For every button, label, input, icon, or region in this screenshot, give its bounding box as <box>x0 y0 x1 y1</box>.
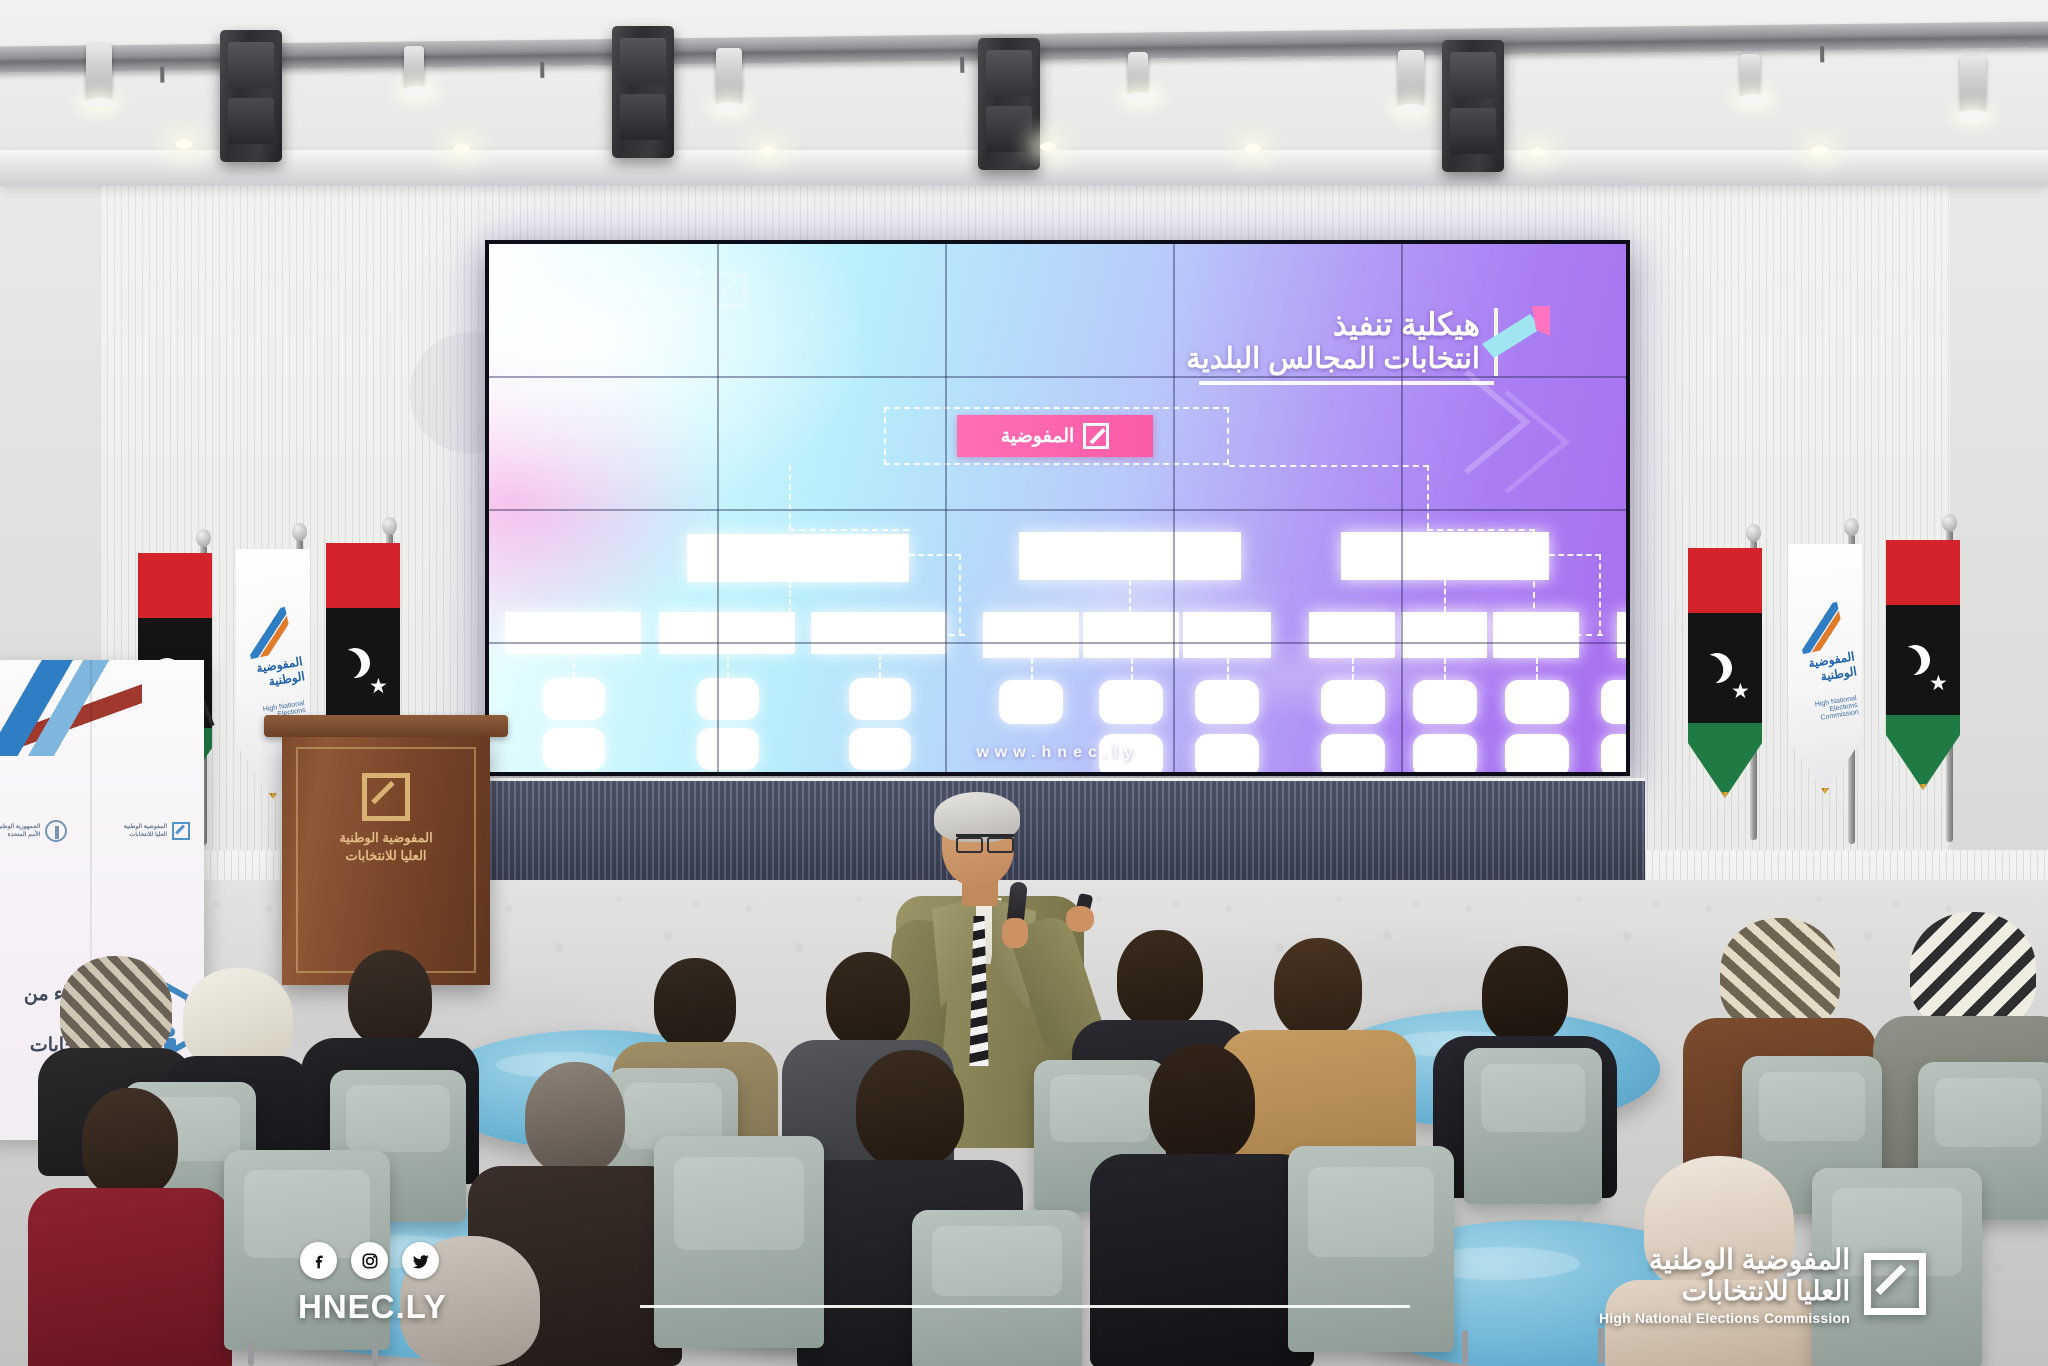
connector <box>1427 529 1535 531</box>
twitter-icon[interactable] <box>402 1242 439 1279</box>
video-wall-seam <box>1173 244 1175 772</box>
audience-head <box>525 1062 625 1174</box>
org-node-level3 <box>1617 612 1626 658</box>
ghost-logo-line2: انتخابات المجالس <box>593 281 703 300</box>
audience-head <box>826 952 910 1048</box>
connector <box>959 554 961 634</box>
connector <box>1229 465 1429 467</box>
video-wall-seam <box>489 642 1626 644</box>
audience-head <box>82 1088 178 1198</box>
partner-left-line2: العليا للانتخابات <box>124 831 167 839</box>
ceiling-downlight <box>1040 142 1056 151</box>
audience-member <box>40 1088 220 1366</box>
social-links[interactable] <box>300 1242 439 1279</box>
connector <box>1131 658 1133 680</box>
glasses-icon <box>956 834 1014 846</box>
stage-light <box>86 44 112 102</box>
chair <box>654 1136 824 1348</box>
presentation-slide: هيكلية تنفيذ انتخابات المجالس البلدية هي… <box>489 244 1626 772</box>
chair-leg <box>1462 1330 1468 1364</box>
org-node-level4 <box>1195 680 1259 724</box>
org-node-level2 <box>687 534 909 582</box>
ceiling-downlight <box>454 144 470 153</box>
video-wall-seam <box>489 376 1626 378</box>
connector <box>1599 554 1601 636</box>
org-node-level3 <box>811 612 947 654</box>
ceiling-downlight <box>176 140 192 149</box>
hijab <box>60 956 172 1060</box>
stage-light <box>716 48 742 106</box>
checkbox-icon <box>172 822 190 840</box>
banner-graphic <box>0 660 142 756</box>
partner-logo-left: المفوضية الوطنية العليا للانتخابات <box>124 822 190 840</box>
org-node-commission-label: المفوضية <box>1001 425 1075 448</box>
podium-logo-line1: المفوضية الوطنية <box>339 829 432 847</box>
podium-logo: المفوضية الوطنية العليا للانتخابات <box>282 773 490 865</box>
ceiling-downlight <box>1245 144 1261 153</box>
audience-member <box>1102 1044 1302 1364</box>
org-node-level4 <box>1099 680 1163 724</box>
hanging-speaker <box>612 26 674 158</box>
ceiling-downlight <box>760 146 776 155</box>
video-wall[interactable]: هيكلية تنفيذ انتخابات المجالس البلدية هي… <box>485 240 1630 776</box>
connector <box>1031 658 1033 680</box>
hnec-flag-mark-icon <box>242 607 294 659</box>
instagram-icon[interactable] <box>351 1242 388 1279</box>
org-node-level4 <box>1321 680 1385 724</box>
video-wall-seam <box>1401 244 1403 772</box>
connector <box>1444 580 1446 612</box>
slide-title: هيكلية تنفيذ انتخابات المجالس البلدية <box>1186 308 1498 376</box>
hanging-speaker <box>220 30 282 162</box>
connector <box>1352 658 1354 680</box>
ceiling-downlight <box>1812 146 1828 155</box>
podium-logo-line2: العليا للانتخابات <box>339 847 432 865</box>
org-node-level3 <box>1183 612 1271 658</box>
audience-torso <box>1090 1154 1314 1366</box>
video-wall-seam <box>717 244 719 772</box>
hanging-speaker <box>1442 40 1504 172</box>
slide-title-line1: هيكلية تنفيذ <box>1186 308 1480 343</box>
brand-line2: العليا للانتخابات <box>1599 1276 1850 1308</box>
video-wall-seam <box>945 244 947 772</box>
slide-ghost-logo: هيكلية تنفيذ انتخابات المجالس البلدية <box>593 262 747 318</box>
presenter-hand-left <box>1002 918 1028 948</box>
partner-right-line1: الجمهورية الوطنية <box>0 823 40 831</box>
hanging-speaker <box>978 38 1040 170</box>
connector <box>1536 658 1538 680</box>
chair-leg <box>1598 1328 1604 1364</box>
stage-light <box>404 46 424 90</box>
checkbox-icon <box>1083 423 1109 449</box>
org-node-level3 <box>983 612 1079 658</box>
brand-line3: High National Elections Commission <box>1599 1310 1850 1326</box>
org-node-level3 <box>1309 612 1395 658</box>
org-node-level4 <box>1601 680 1626 724</box>
checkbox-icon <box>1864 1253 1926 1315</box>
audience-head <box>348 950 432 1046</box>
org-node-commission: المفوضية <box>957 415 1153 457</box>
org-node-level4 <box>543 678 605 720</box>
video-wall-seam <box>489 509 1626 511</box>
flag-group-right: ★ المفوضية الوطنية High National Electio… <box>1700 540 2000 870</box>
stage-light <box>1128 52 1148 96</box>
site-url-overlay: HNEC.LY <box>298 1288 447 1326</box>
hijab <box>1910 912 2036 1028</box>
overlay-divider <box>640 1305 1410 1308</box>
connector <box>1575 634 1603 636</box>
hijab <box>1720 918 1840 1030</box>
audience-head <box>1274 938 1362 1038</box>
connector <box>879 654 881 678</box>
connector <box>727 654 729 678</box>
seal-icon <box>45 820 67 842</box>
hnec-brand-overlay: المفوضية الوطنية العليا للانتخابات High … <box>1599 1243 1926 1326</box>
org-node-level2 <box>1019 532 1241 580</box>
ceiling-downlight <box>1530 148 1546 157</box>
org-node-level3 <box>1493 612 1579 658</box>
org-node-level4 <box>697 678 759 720</box>
stage-light <box>1960 56 1986 114</box>
connector <box>573 654 575 678</box>
chair <box>1288 1146 1454 1352</box>
facebook-icon[interactable] <box>300 1242 337 1279</box>
org-node-level4 <box>999 680 1063 724</box>
connector <box>789 529 909 531</box>
connector <box>1549 554 1601 556</box>
brand-line1: المفوضية الوطنية <box>1599 1243 1850 1276</box>
podium-body: المفوضية الوطنية العليا للانتخابات <box>282 737 490 985</box>
title-flag-icon <box>1476 302 1562 372</box>
org-node-level3 <box>659 612 795 654</box>
org-node-level3 <box>505 612 641 654</box>
hnec-flag-sub: High National Elections Commission <box>1791 695 1859 726</box>
connector <box>1427 465 1429 529</box>
audience-torso <box>28 1188 232 1366</box>
connector <box>789 465 791 529</box>
banner-partner-logos: الجمهورية الوطنية الأمم المتحدة المفوضية… <box>0 820 190 842</box>
slide-url: www.hnec.ly <box>489 744 1626 762</box>
connector <box>1129 580 1131 612</box>
chair <box>912 1210 1082 1366</box>
hijab <box>183 968 293 1068</box>
connector <box>1227 658 1229 680</box>
ghost-logo-line3: البلدية <box>593 300 703 319</box>
podium: المفوضية الوطنية العليا للانتخابات <box>272 715 500 985</box>
org-node-level3 <box>1083 612 1179 658</box>
slide-title-line2: انتخابات المجالس البلدية <box>1186 343 1480 377</box>
org-node-level4 <box>1505 680 1569 724</box>
ghost-logo-line1: هيكلية تنفيذ <box>593 262 703 281</box>
partner-right-line2: الأمم المتحدة <box>0 831 40 839</box>
chair <box>1464 1048 1602 1204</box>
chair-leg <box>248 1340 254 1366</box>
org-node-level3 <box>1401 612 1487 658</box>
podium-top <box>264 715 508 737</box>
screenshot-root: هيكلية تنفيذ انتخابات المجالس البلدية هي… <box>0 0 2048 1366</box>
audience-head <box>1117 930 1203 1028</box>
presenter-hand-right <box>1066 906 1094 932</box>
checkbox-icon <box>362 773 410 821</box>
audience-head <box>1149 1044 1255 1162</box>
org-node-level4 <box>1413 680 1477 724</box>
connector <box>1444 658 1446 680</box>
partner-left-line1: المفوضية الوطنية <box>124 823 167 831</box>
connector <box>789 582 791 614</box>
audience-head <box>1482 946 1568 1044</box>
audience-head <box>654 958 736 1050</box>
partner-logo-right: الجمهورية الوطنية الأمم المتحدة <box>0 820 67 842</box>
hnec-flag-mark-icon <box>1794 602 1846 654</box>
org-node-level4 <box>849 678 911 720</box>
org-node-level2 <box>1341 532 1549 580</box>
chair-leg <box>372 1340 378 1366</box>
stage-light <box>1740 54 1760 98</box>
connector <box>909 554 961 556</box>
connector <box>929 634 965 636</box>
audience-head <box>856 1050 964 1168</box>
stage-light <box>1398 50 1424 108</box>
